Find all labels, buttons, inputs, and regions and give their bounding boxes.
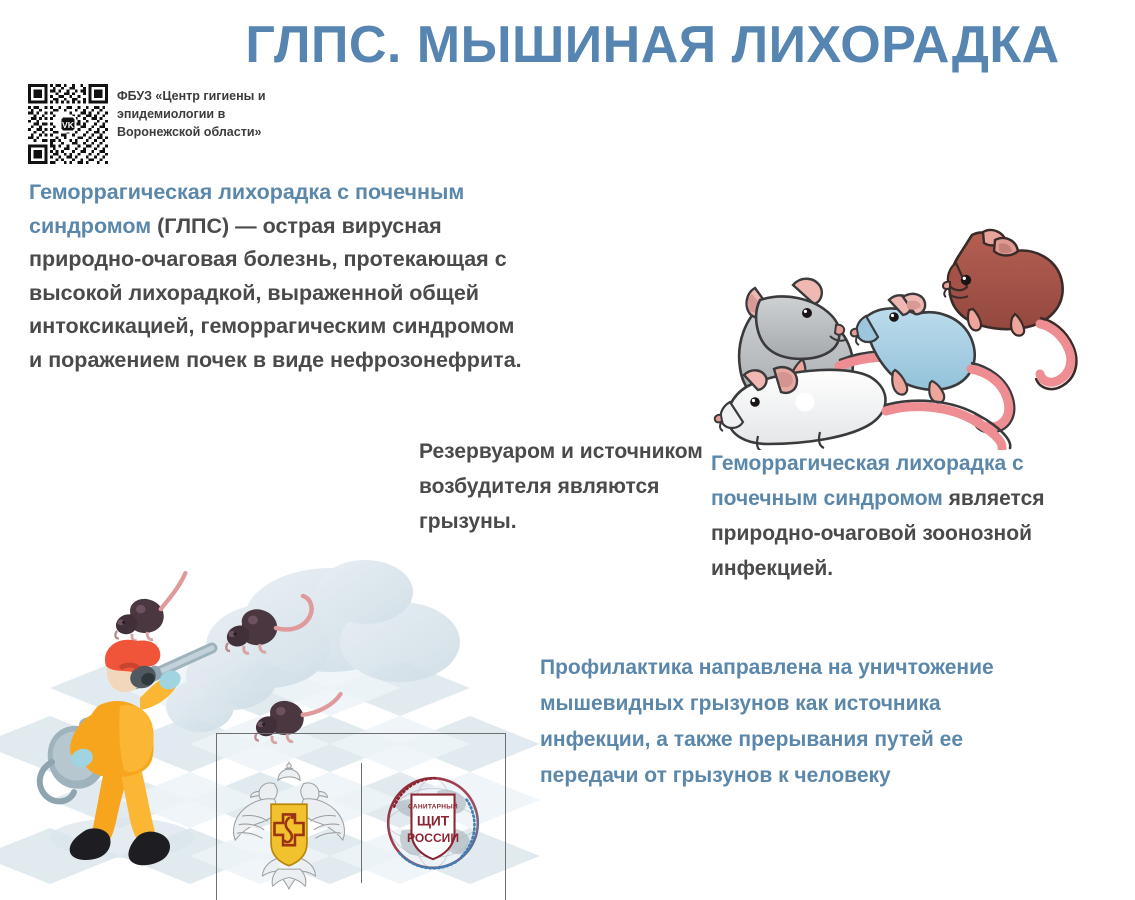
poster-canvas: ГЛПС. МЫШИНАЯ ЛИХОРАДКА bbox=[0, 0, 1135, 900]
shield-line-2: ЩИТ bbox=[417, 814, 450, 829]
vk-logo-icon: VK bbox=[60, 116, 77, 133]
logo-panel: САНИТАРНЫЙ ЩИТ РОССИИ bbox=[216, 733, 506, 900]
prevention-statement: Профилактика направлена на уничтожение м… bbox=[540, 650, 1040, 794]
sanitary-shield-of-russia-emblem: САНИТАРНЫЙ ЩИТ РОССИИ bbox=[362, 734, 506, 900]
organization-name: ФБУЗ «Центр гигиены и эпидемиологии в Во… bbox=[117, 84, 302, 141]
rospotrebnadzor-eagle-emblem bbox=[217, 734, 361, 900]
qr-code-icon[interactable]: VK bbox=[28, 84, 108, 164]
shield-line-1: САНИТАРНЫЙ bbox=[408, 801, 458, 810]
organization-brand-block: VK ФБУЗ «Центр гигиены и эпидемиологии в… bbox=[28, 84, 302, 164]
svg-text:VK: VK bbox=[62, 120, 75, 130]
page-title: ГЛПС. МЫШИНАЯ ЛИХОРАДКА bbox=[0, 18, 1135, 73]
intro-paragraph: Геморрагическая лихорадка с почечным син… bbox=[29, 176, 529, 377]
four-mice-illustration bbox=[700, 110, 1130, 450]
reservoir-statement: Резервуаром и источником возбудителя явл… bbox=[419, 434, 709, 539]
zoonotic-statement: Геморрагическая лихорадка с почечным син… bbox=[711, 446, 1126, 586]
shield-line-3: РОССИИ bbox=[407, 831, 459, 845]
floor-rat bbox=[115, 573, 185, 641]
